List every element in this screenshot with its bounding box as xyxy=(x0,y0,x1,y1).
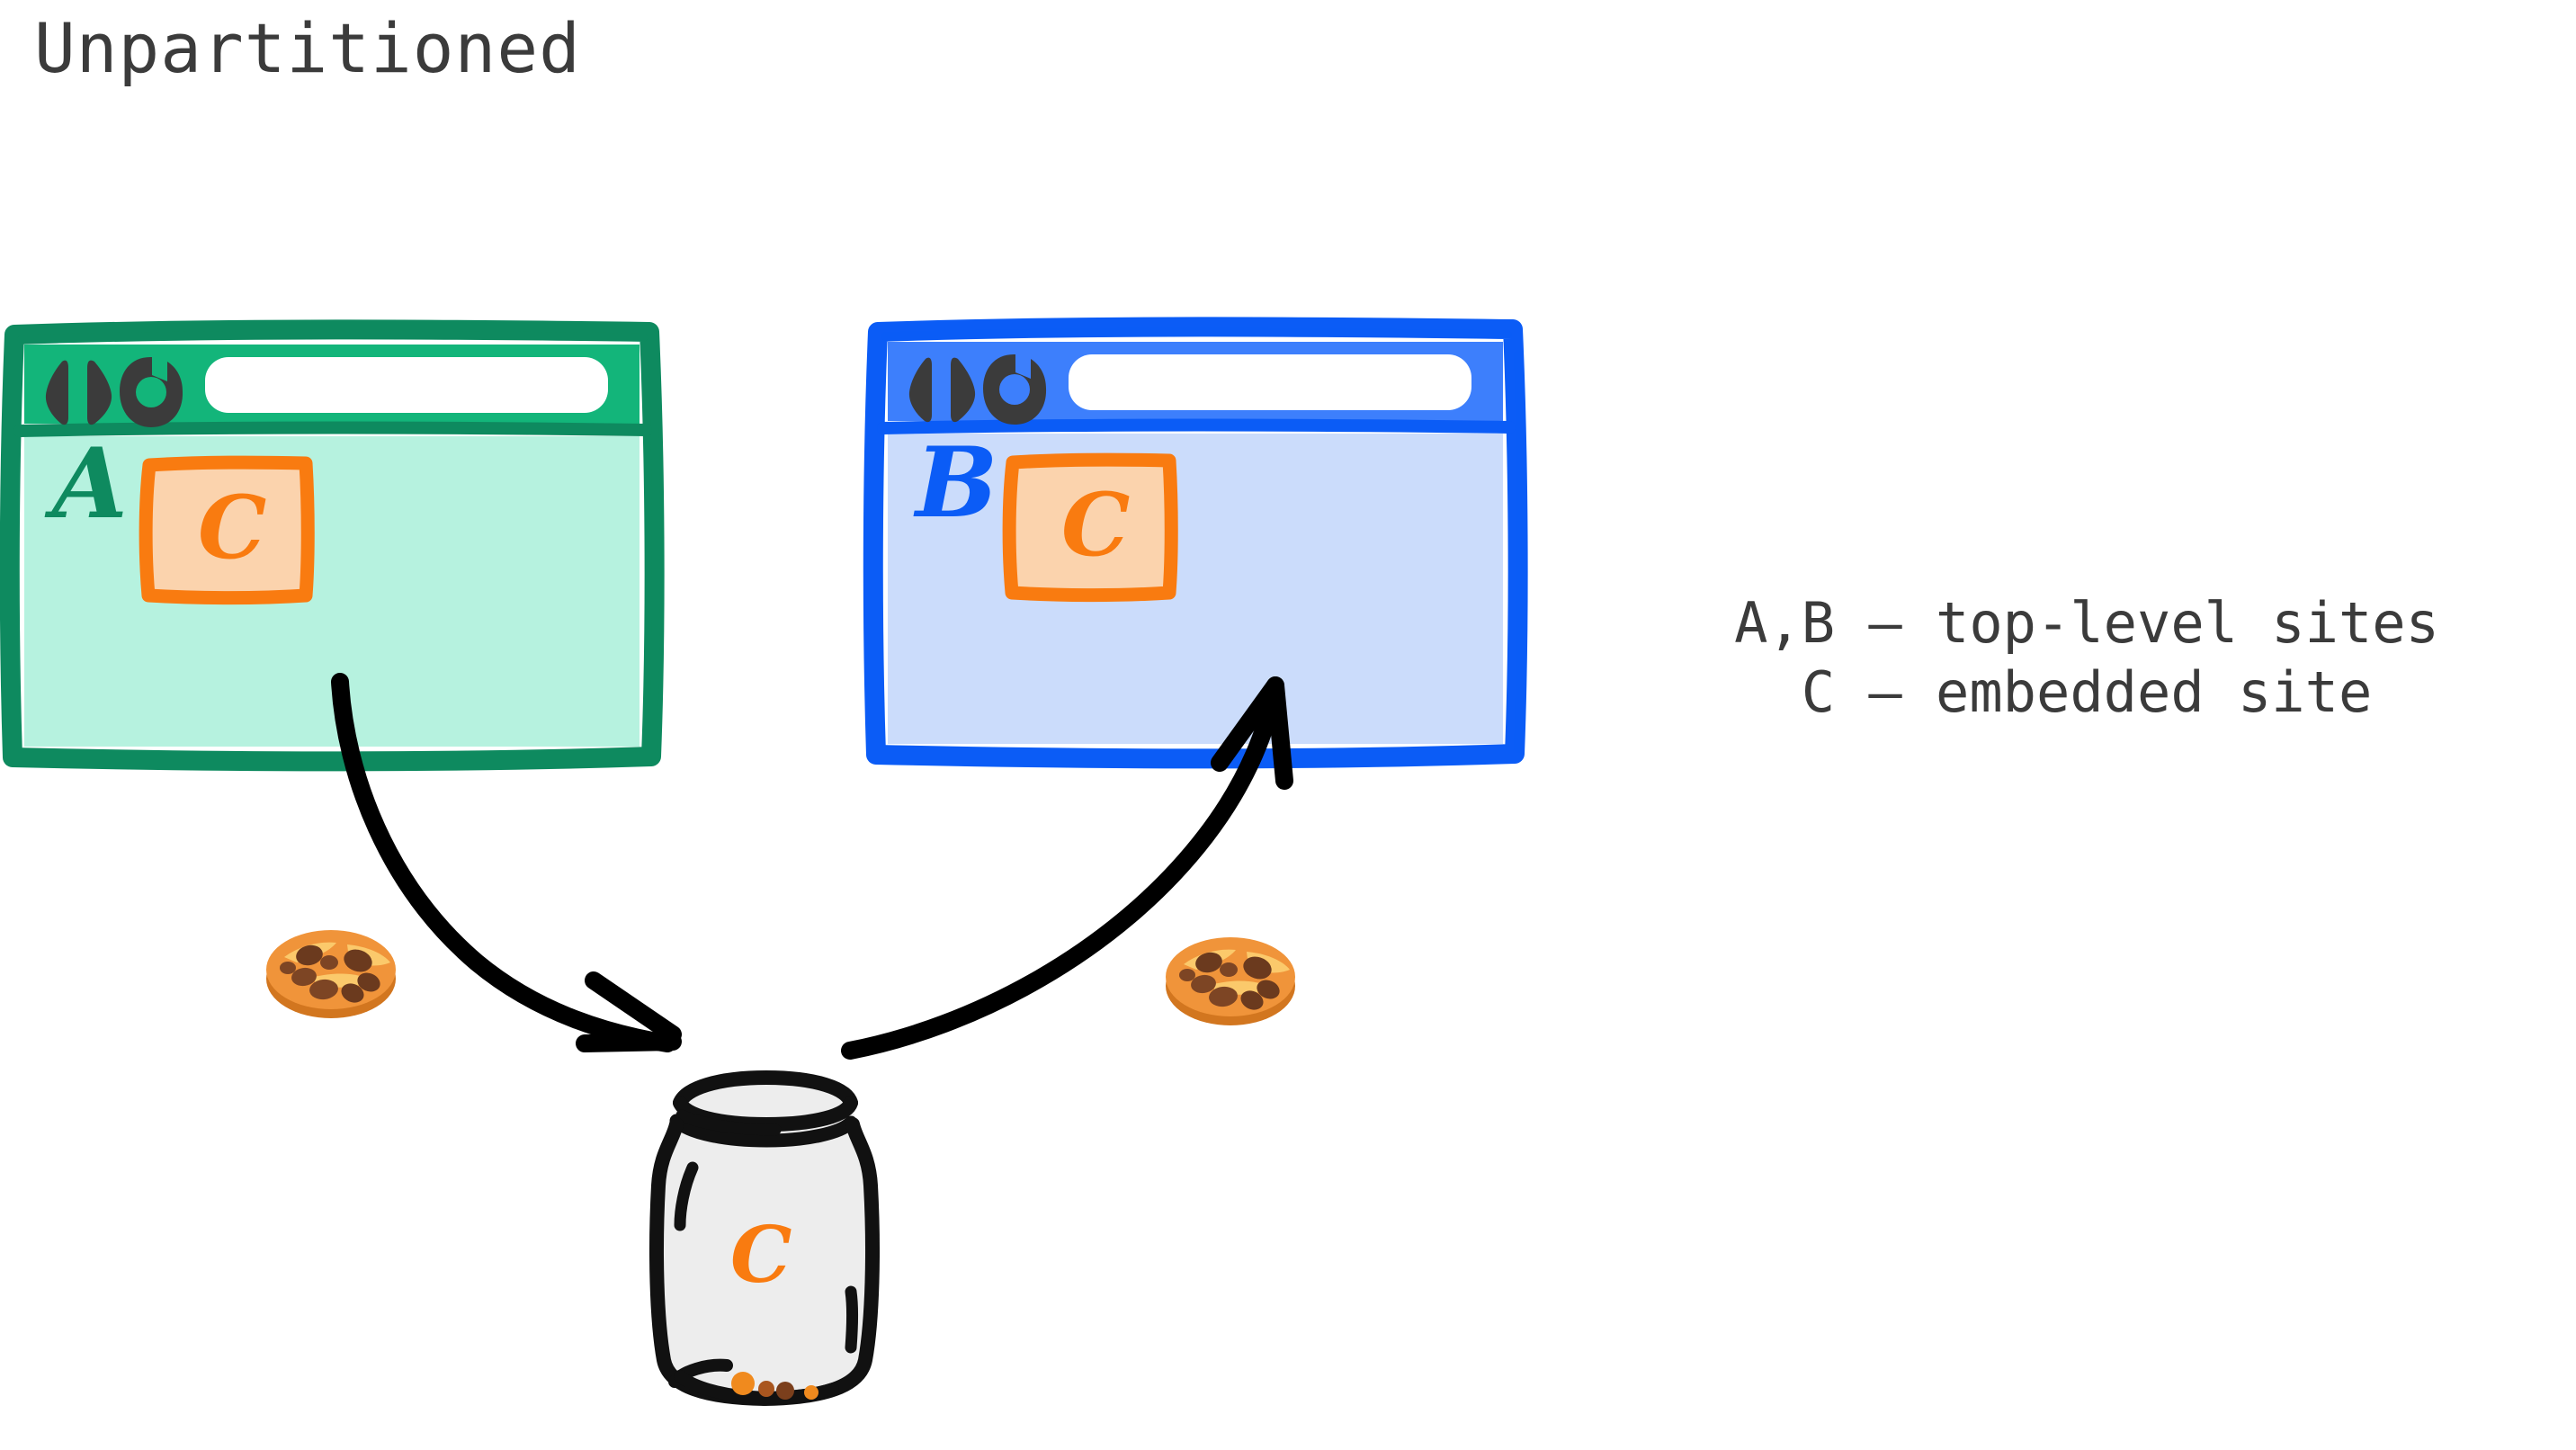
legend: A,B — top-level sites C — embedded site xyxy=(1610,594,2563,723)
url-bar-b[interactable] xyxy=(1069,354,1471,410)
browser-window-a: A C xyxy=(0,319,666,778)
site-letter-a: A xyxy=(44,427,128,541)
iframe-letter-b: C xyxy=(1061,474,1130,576)
browser-window-b: B C xyxy=(863,317,1529,775)
reload-icon[interactable] xyxy=(120,357,183,427)
embedded-iframe-b: C xyxy=(1009,460,1171,595)
legend-line-embedded: C — embedded site xyxy=(1610,663,2563,723)
legend-line-top-level: A,B — top-level sites xyxy=(1610,594,2563,654)
page-title: Unpartitioned xyxy=(34,14,581,83)
reload-icon[interactable] xyxy=(983,354,1046,425)
site-letter-b: B xyxy=(913,426,997,540)
embedded-iframe-a: C xyxy=(146,462,308,598)
cookie-right xyxy=(1158,917,1302,1036)
iframe-letter-a: C xyxy=(198,477,266,578)
cookie-left xyxy=(259,910,403,1029)
jar-letter: C xyxy=(730,1210,792,1301)
url-bar-a[interactable] xyxy=(205,357,608,413)
cookie-jar: C xyxy=(621,1034,908,1412)
